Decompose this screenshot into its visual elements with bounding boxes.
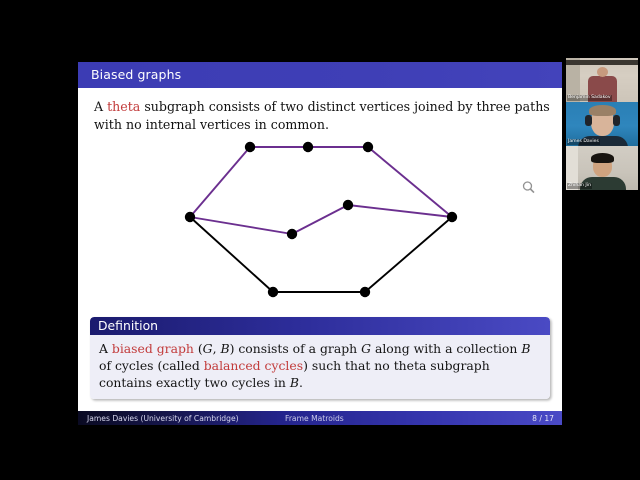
webcam-tile-1[interactable]: Benjamin Sadakov bbox=[566, 58, 638, 102]
def-text-6: of cycles (called bbox=[99, 358, 204, 373]
def-math-g2: G bbox=[361, 341, 371, 356]
vertex-top-3 bbox=[363, 142, 373, 152]
footer-author: James Davies (University of Cambridge) bbox=[87, 414, 239, 423]
cam2-headphone-left bbox=[585, 115, 592, 126]
def-keyword-biased-graph: biased graph bbox=[112, 341, 194, 356]
cam3-hair bbox=[591, 153, 614, 163]
vertex-bot-2 bbox=[360, 287, 370, 297]
definition-header: Definition bbox=[90, 317, 550, 335]
cam1-head bbox=[597, 67, 608, 77]
theta-path-top bbox=[190, 147, 452, 217]
vertex-top-2 bbox=[303, 142, 313, 152]
def-text-5: along with a collection bbox=[371, 341, 521, 356]
cam2-hair bbox=[589, 105, 616, 116]
definition-callout: Definition A biased graph (G, B) consist… bbox=[90, 317, 550, 399]
webcam-label-1: Benjamin Sadakov bbox=[567, 95, 612, 101]
footer-talk-title: Frame Matroids bbox=[285, 414, 344, 423]
intro-paragraph: A theta subgraph consists of two distinc… bbox=[94, 98, 552, 133]
slide-title-bar: Biased graphs bbox=[78, 62, 562, 88]
def-math-b3: B bbox=[290, 375, 299, 390]
footer-page-number: 8 / 17 bbox=[532, 414, 554, 423]
intro-text-after: subgraph consists of two distinct vertic… bbox=[94, 99, 550, 132]
slide-footer: James Davies (University of Cambridge) F… bbox=[78, 411, 562, 425]
slide-title: Biased graphs bbox=[91, 67, 181, 82]
webcam-tile-3[interactable]: Zhihan Jin bbox=[566, 146, 638, 190]
vertex-hub-left bbox=[185, 212, 195, 222]
def-text-4: ) consists of a graph bbox=[230, 341, 362, 356]
theta-path-bottom bbox=[190, 217, 452, 292]
theta-path-middle bbox=[190, 205, 452, 234]
intro-text-before: A bbox=[94, 99, 107, 114]
zoom-magnifier-cursor bbox=[521, 180, 537, 196]
def-text-2: ( bbox=[194, 341, 203, 356]
vertex-top-1 bbox=[245, 142, 255, 152]
cam2-headphone-right bbox=[613, 115, 620, 126]
webcam-label-3: Zhihan Jin bbox=[567, 183, 592, 189]
cam1-backdrop bbox=[566, 60, 638, 65]
vertex-mid-1 bbox=[287, 229, 297, 239]
def-math-b1: B bbox=[220, 341, 229, 356]
webcam-strip: Benjamin Sadakov James Davies Zhihan Jin bbox=[566, 58, 638, 190]
def-keyword-balanced-cycles: balanced cycles bbox=[204, 358, 303, 373]
webcam-tile-2[interactable]: James Davies bbox=[566, 102, 638, 146]
vertex-bot-1 bbox=[268, 287, 278, 297]
def-math-g1: G bbox=[203, 341, 213, 356]
webcam-label-2: James Davies bbox=[567, 139, 600, 145]
vertex-hub-right bbox=[447, 212, 457, 222]
definition-header-label: Definition bbox=[90, 317, 550, 333]
def-text-8: . bbox=[299, 375, 303, 390]
intro-keyword-theta: theta bbox=[107, 99, 140, 114]
theta-subgraph-figure bbox=[78, 132, 562, 312]
def-math-b2: B bbox=[521, 341, 530, 356]
presentation-slide: Biased graphs A theta subgraph consists … bbox=[78, 62, 562, 425]
definition-body: A biased graph (G, B) consists of a grap… bbox=[90, 335, 550, 399]
vertex-mid-2 bbox=[343, 200, 353, 210]
def-text-1: A bbox=[99, 341, 112, 356]
